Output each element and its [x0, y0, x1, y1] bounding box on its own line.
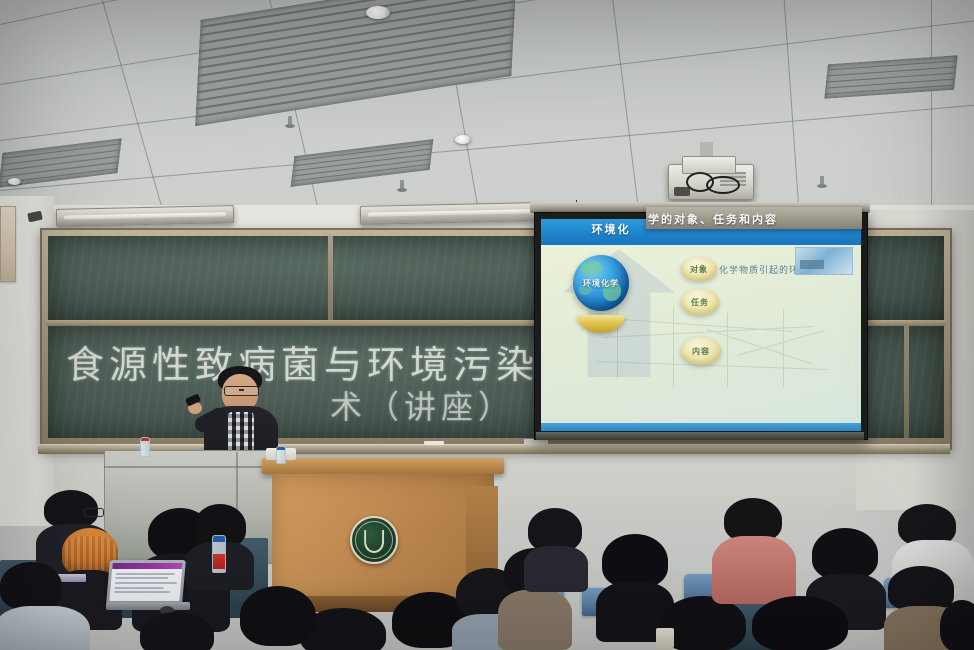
bubble-label-content: 内容 [692, 346, 710, 357]
water-bottle-student[interactable] [212, 535, 226, 573]
emblem-u-mark [364, 530, 384, 552]
sprinkler-head-2 [400, 180, 404, 191]
slide-body: 环境化学 对象 任务 内容 化学物质引起的环境问题 [541, 245, 861, 423]
blackboard-light-right [360, 202, 540, 225]
slide-surface: 环境化 [541, 219, 861, 431]
water-bottle-desk[interactable] [140, 437, 150, 457]
projector-cable-2 [706, 176, 740, 194]
lecture-hall-photo: 食源性致病菌与环境污染控 术（讲座） 环境化 [0, 0, 974, 650]
hair [0, 562, 62, 610]
laptop[interactable] [106, 560, 186, 604]
bottle-label [213, 554, 225, 569]
chalk-piece [424, 441, 444, 445]
sprinkler-head-3 [820, 176, 824, 187]
globe-label: 环境化学 [573, 278, 629, 289]
presenter-glasses-bridge [239, 389, 244, 391]
audience-glasses [84, 508, 104, 517]
teacher-desk-edge [104, 466, 284, 468]
slide-title-right-part: 学的对象、任务和内容 [648, 211, 778, 227]
laptop-app-toolbar [112, 563, 183, 569]
projector-lens [674, 187, 690, 196]
hair [140, 612, 214, 650]
university-emblem [350, 516, 398, 564]
blackboard-chalk-line-2: 术（讲座） [330, 382, 515, 428]
audience-member-pink-shirt [712, 498, 796, 598]
blackboard-light-left [56, 205, 234, 227]
bottle-cap-student [213, 536, 225, 542]
torso [712, 536, 796, 604]
bottle-cap [141, 438, 149, 441]
ceiling-vent-1 [195, 0, 517, 126]
hair [602, 534, 668, 588]
slide-footer-bar [541, 423, 861, 431]
hair [752, 596, 848, 650]
screen-bottom-weight-bar [536, 432, 864, 440]
audience-member-center-5 [524, 508, 588, 582]
ceiling [0, 0, 974, 232]
audience-member-right-far [940, 600, 974, 650]
audience-member-near-podium-1 [240, 586, 316, 650]
smoke-detector-1 [366, 6, 390, 19]
smoke-detector-3 [8, 178, 21, 185]
blackboard-chalk-line-1: 食源性致病菌与环境污染控 [66, 334, 582, 389]
bubble-object: 对象 [681, 257, 717, 281]
laptop-keyboard-base[interactable] [106, 602, 190, 610]
projection-screen[interactable]: 环境化 [534, 212, 868, 440]
audience-member-left-front [0, 562, 88, 650]
audience-member-right-bottom [752, 596, 848, 650]
bottle-cap-podium [277, 447, 285, 450]
torso [498, 590, 572, 650]
audience-member-near-podium-2 [140, 612, 214, 650]
globe-graphic: 环境化学 [573, 255, 629, 311]
bubble-label-object: 对象 [690, 264, 708, 275]
wall-poster [0, 206, 16, 282]
bubble-content: 内容 [681, 337, 721, 365]
hair [240, 586, 316, 646]
laptop-screen [109, 563, 182, 601]
ceiling-vent-4 [824, 55, 957, 98]
bubble-label-task: 任务 [691, 297, 709, 308]
hair [812, 528, 878, 580]
presenter-glasses [224, 386, 259, 396]
sprinkler-head-1 [288, 116, 292, 127]
ceiling-vent-2 [291, 139, 434, 187]
hair [940, 600, 974, 650]
torso [524, 546, 588, 592]
podium-top-surface [262, 458, 504, 474]
slide-photo-thumbnail [795, 247, 853, 275]
torso [0, 606, 90, 650]
paper-cup[interactable] [656, 628, 674, 650]
bubble-task: 任务 [681, 289, 719, 315]
water-bottle-podium[interactable] [276, 446, 286, 464]
projector-upper-housing [682, 156, 736, 174]
smoke-detector-2 [455, 135, 471, 144]
